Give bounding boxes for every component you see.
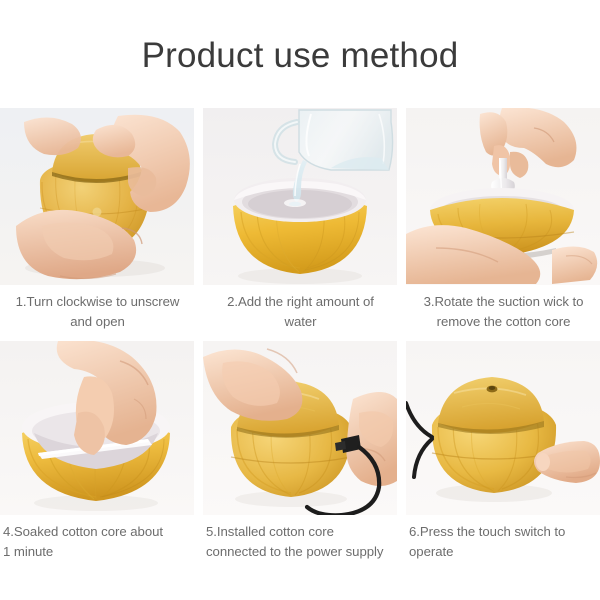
step-card-5: 5.Installed cotton core connected to the… xyxy=(203,341,397,561)
steps-grid: 1.Turn clockwise to unscrew and open xyxy=(0,108,600,561)
step-photo-3 xyxy=(406,108,600,285)
step-card-6: 6.Press the touch switch to operate xyxy=(406,341,600,561)
hands-unscrew-icon xyxy=(0,108,194,285)
step-caption-4: 4.Soaked cotton core about 1 minute xyxy=(0,515,194,561)
step-card-4: 4.Soaked cotton core about 1 minute xyxy=(0,341,194,561)
connect-power-icon xyxy=(203,341,397,515)
step-caption-1: 1.Turn clockwise to unscrew and open xyxy=(0,285,194,341)
page-title: Product use method xyxy=(0,34,600,78)
step-caption-3: 3.Rotate the suction wick to remove the … xyxy=(406,285,600,341)
soak-core-icon xyxy=(0,341,194,515)
step-caption-6: 6.Press the touch switch to operate xyxy=(406,515,600,561)
pour-water-icon xyxy=(203,108,397,285)
step-card-2: 2.Add the right amount of water xyxy=(203,108,397,341)
step-photo-6 xyxy=(406,341,600,515)
step-caption-2: 2.Add the right amount of water xyxy=(203,285,397,341)
step-photo-4 xyxy=(0,341,194,515)
steps-row-1: 1.Turn clockwise to unscrew and open xyxy=(0,108,600,341)
steps-row-2: 4.Soaked cotton core about 1 minute xyxy=(0,341,600,561)
step-photo-1 xyxy=(0,108,194,285)
touch-switch-icon xyxy=(406,341,600,515)
step-photo-5 xyxy=(203,341,397,515)
remove-wick-icon xyxy=(406,108,600,285)
step-caption-5: 5.Installed cotton core connected to the… xyxy=(203,515,397,561)
product-instruction-infographic: Product use method xyxy=(0,0,600,600)
step-card-3: 3.Rotate the suction wick to remove the … xyxy=(406,108,600,341)
step-photo-2 xyxy=(203,108,397,285)
step-card-1: 1.Turn clockwise to unscrew and open xyxy=(0,108,194,341)
